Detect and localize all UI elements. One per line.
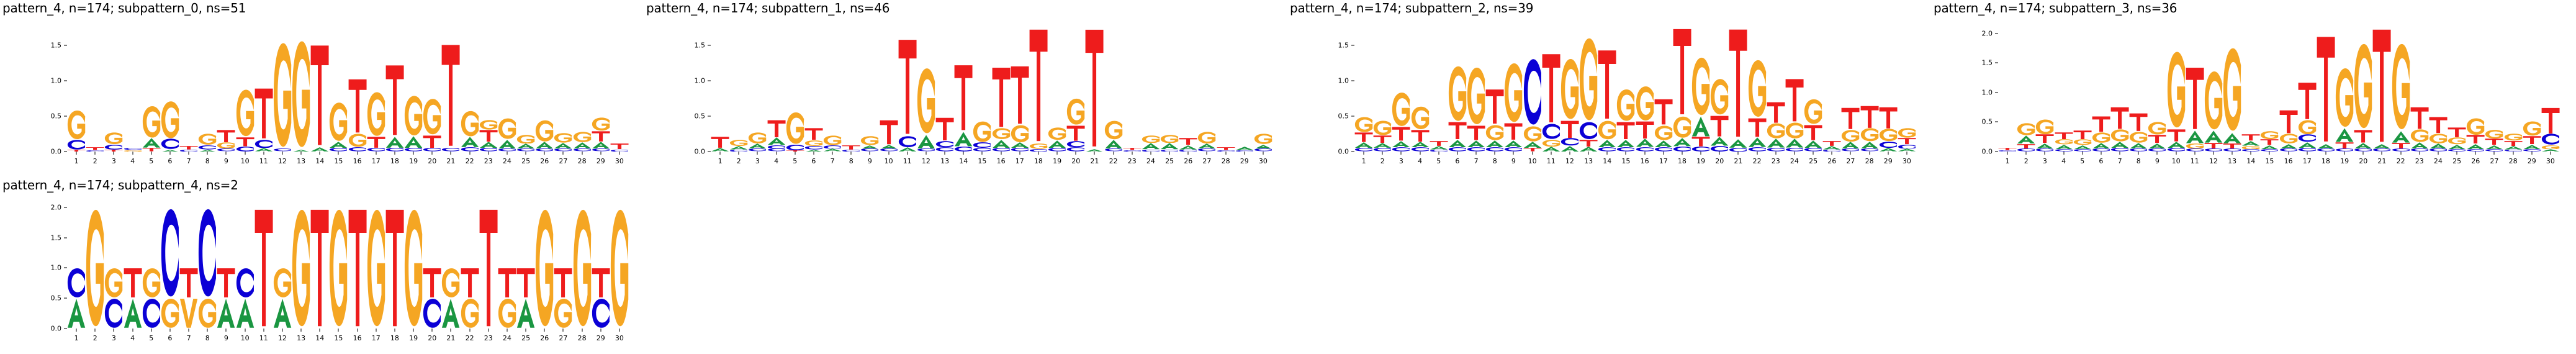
x-tick-label: 20	[1715, 157, 1724, 165]
x-tick-mark	[95, 152, 96, 155]
logo-letter-A	[1860, 142, 1879, 148]
x-tick-mark	[2344, 152, 2345, 155]
logo-stack	[1179, 27, 1197, 152]
logo-letter-A	[1373, 143, 1392, 148]
x-tick-mark	[488, 329, 489, 332]
logo-stack	[535, 27, 554, 152]
x-tick-label: 27	[559, 157, 567, 165]
logo-letter-T	[898, 38, 917, 136]
x-tick-label: 19	[2340, 157, 2349, 165]
x-tick-mark	[2438, 152, 2438, 155]
logo-stack	[124, 204, 142, 329]
panel-title: pattern_4, n=174; subpattern_2, ns=39	[1290, 1, 1533, 16]
x-tick-mark	[1457, 152, 1457, 155]
x-tick-label: 2	[93, 157, 97, 165]
logo-stack	[935, 27, 954, 152]
logo-stack	[1998, 27, 2017, 152]
x-tick-label: 1	[1362, 157, 1366, 165]
x-tick-label: 9	[224, 334, 228, 342]
logo-letter-G	[2260, 131, 2279, 139]
logo-stack	[2035, 27, 2054, 152]
x-tick-label: 29	[1884, 157, 1893, 165]
logo-letter-G	[748, 132, 767, 143]
x-tick-label: 20	[428, 157, 436, 165]
logo-letter-T	[2298, 82, 2317, 120]
x-tick-mark	[95, 329, 96, 332]
logo-letter-T	[880, 120, 898, 145]
logo-letter-G	[554, 133, 572, 143]
logo-letter-G	[1142, 135, 1160, 143]
logo-letter-A	[2073, 145, 2092, 150]
logo-letter-T	[804, 128, 823, 140]
logo-panel-subpattern_0: pattern_4, n=174; subpattern_0, ns=510.0…	[0, 0, 644, 177]
logo-stack	[423, 27, 441, 152]
x-tick-mark	[2232, 152, 2233, 155]
logo-letter-T	[1804, 125, 1822, 140]
x-tick-mark	[982, 152, 983, 155]
x-tick-mark	[1869, 152, 1870, 155]
logo-letter-T	[254, 207, 273, 329]
logo-letter-G	[2523, 121, 2541, 136]
logo-letter-G	[423, 98, 441, 135]
logo-letter-G	[367, 207, 385, 329]
logo-letter-A	[479, 142, 498, 148]
logo-letter-T	[2186, 66, 2204, 130]
x-tick-mark	[1076, 152, 1076, 155]
logo-letter-G	[1485, 125, 1504, 140]
x-tick-mark	[776, 152, 777, 155]
logo-stack	[2504, 27, 2523, 152]
logo-letter-A	[2223, 133, 2241, 143]
logo-letter-A	[2148, 143, 2166, 149]
x-tick-mark	[2101, 152, 2101, 155]
logo-letter-G	[329, 102, 348, 142]
x-tick-label: 21	[1734, 157, 1742, 165]
x-tick-mark	[1701, 152, 1701, 155]
x-tick-label: 12	[278, 157, 287, 165]
x-tick-mark	[2269, 152, 2270, 155]
logo-stack	[2204, 27, 2223, 152]
logo-letter-G	[1354, 117, 1373, 132]
logo-stack	[1048, 27, 1066, 152]
logo-stack	[516, 204, 535, 329]
x-tick-label: 11	[259, 334, 268, 342]
logo-letter-T	[2167, 129, 2186, 142]
logo-stack	[1197, 27, 1216, 152]
logo-letter-G	[479, 120, 498, 130]
logo-stack	[348, 204, 367, 329]
logo-stack	[898, 27, 917, 152]
logo-stack	[767, 27, 786, 152]
x-tick-label: 15	[1621, 157, 1630, 165]
x-tick-mark	[619, 329, 619, 332]
logo-letter-A	[1485, 140, 1504, 147]
logo-stack	[1430, 27, 1448, 152]
x-tick-mark	[544, 152, 545, 155]
x-tick-label: 26	[540, 157, 549, 165]
x-tick-label: 21	[446, 157, 455, 165]
logo-letter-G	[2092, 132, 2110, 143]
x-tick-mark	[1607, 152, 1608, 155]
logo-letter-G	[1160, 135, 1179, 143]
x-tick-mark	[451, 152, 451, 155]
x-tick-mark	[320, 329, 320, 332]
logo-letter-T	[1691, 137, 1710, 147]
x-tick-label: 2	[1380, 157, 1385, 165]
logo-letter-A	[1560, 146, 1579, 152]
x-tick-label: 16	[353, 334, 362, 342]
x-tick-mark	[169, 152, 170, 155]
logo-letter-T	[610, 143, 629, 149]
logo-letter-T	[1448, 122, 1467, 140]
x-tick-mark	[1263, 152, 1263, 155]
x-tick-mark	[1113, 152, 1114, 155]
logo-stack	[1710, 27, 1729, 152]
logo-letter-T	[2335, 142, 2354, 148]
logo-letter-T	[2523, 136, 2541, 144]
logo-letter-G	[2541, 145, 2560, 150]
logo-letter-T	[1029, 27, 1048, 143]
x-tick-mark	[207, 152, 208, 155]
logo-stack	[2092, 27, 2110, 152]
logo-letter-A	[592, 142, 610, 148]
logo-letter-T	[2541, 107, 2560, 134]
logo-stack	[2448, 27, 2466, 152]
logo-stack	[592, 204, 610, 329]
logo-letter-C	[973, 142, 991, 148]
x-tick-mark	[1663, 152, 1664, 155]
x-tick-label: 16	[997, 157, 1006, 165]
x-tick-mark	[2213, 152, 2213, 155]
logo-letter-A	[2335, 128, 2354, 142]
logo-letter-G	[142, 106, 161, 138]
logo-stack	[104, 204, 123, 329]
x-tick-label: 17	[1016, 157, 1024, 165]
logo-stack	[1560, 27, 1579, 152]
x-tick-label: 25	[521, 334, 530, 342]
logo-letter-A	[1748, 137, 1767, 147]
logo-letter-A	[1804, 140, 1822, 148]
logo-letter-G	[729, 140, 748, 146]
logo-letter-G	[2017, 123, 2035, 135]
x-tick-label: 5	[1436, 157, 1441, 165]
logo-letter-C	[1066, 147, 1085, 152]
x-tick-mark	[1569, 152, 1570, 155]
x-tick-mark	[2026, 152, 2027, 155]
x-tick-mark	[189, 329, 189, 332]
plot-area: 0.00.51.01.52.01234567891011121314151617…	[67, 204, 629, 329]
x-tick-mark	[1364, 152, 1364, 155]
logo-stack	[2429, 27, 2448, 152]
logo-stack	[1523, 27, 1542, 152]
x-tick-label: 28	[578, 157, 587, 165]
logo-stack	[1467, 27, 1485, 152]
x-tick-label: 8	[849, 157, 853, 165]
logo-letter-T	[2485, 138, 2503, 145]
x-tick-label: 11	[1547, 157, 1556, 165]
logo-letter-G	[367, 91, 385, 137]
x-tick-label: 21	[446, 334, 455, 342]
logo-stack	[161, 27, 179, 152]
x-tick-mark	[2007, 152, 2008, 155]
logo-letter-G	[404, 95, 423, 136]
logo-stack	[2260, 27, 2279, 152]
x-tick-label: 30	[2546, 157, 2555, 165]
logo-letter-G	[2298, 120, 2317, 135]
logo-stack	[1029, 27, 1048, 152]
x-tick-label: 3	[112, 157, 116, 165]
logo-panel-subpattern_3: pattern_4, n=174; subpattern_3, ns=360.0…	[1931, 0, 2575, 177]
logo-stack	[1011, 27, 1029, 152]
x-tick-mark	[507, 329, 507, 332]
logo-letter-A	[2410, 142, 2429, 148]
logo-stack	[1748, 27, 1767, 152]
logo-stack	[554, 27, 572, 152]
x-tick-mark	[301, 329, 302, 332]
logo-stack	[310, 27, 329, 152]
logo-letter-G	[1048, 127, 1066, 140]
x-tick-label: 25	[2452, 157, 2461, 165]
x-tick-mark	[1476, 152, 1477, 155]
x-tick-mark	[1401, 152, 1402, 155]
x-tick-label: 17	[372, 157, 381, 165]
logo-stack	[842, 27, 860, 152]
logo-stack	[1123, 27, 1142, 152]
logo-letter-T	[1373, 135, 1392, 143]
x-tick-label: 4	[130, 157, 135, 165]
logo-stack	[1822, 27, 1841, 152]
x-tick-label: 22	[2397, 157, 2405, 165]
logo-letter-G	[804, 140, 823, 146]
logo-panel-subpattern_1: pattern_4, n=174; subpattern_1, ns=460.0…	[644, 0, 1287, 177]
logo-stack	[273, 204, 292, 329]
logo-letter-A	[310, 147, 329, 152]
logo-letter-T	[954, 64, 973, 132]
logo-stack	[498, 204, 516, 329]
logo-letter-T	[2148, 135, 2166, 143]
x-tick-label: 28	[578, 334, 587, 342]
logo-letter-G	[516, 135, 535, 144]
logo-letter-A	[992, 140, 1011, 148]
logo-stack	[1841, 27, 1860, 152]
logo-letter-G	[1011, 125, 1029, 143]
logo-letter-G	[592, 117, 610, 131]
logo-letter-G	[161, 101, 179, 139]
x-tick-mark	[413, 329, 414, 332]
x-tick-label: 10	[885, 157, 893, 165]
x-tick-label: 7	[1474, 157, 1479, 165]
x-tick-label: 27	[2490, 157, 2498, 165]
x-tick-label: 14	[315, 157, 324, 165]
logo-letter-T	[592, 131, 610, 142]
logo-letter-A	[461, 137, 479, 147]
logo-letter-T	[2129, 113, 2148, 132]
x-tick-mark	[2382, 152, 2382, 155]
x-tick-label: 8	[1493, 157, 1497, 165]
x-tick-mark	[1188, 152, 1189, 155]
plot-area: 0.00.51.01.52.01234567891011121314151617…	[1998, 27, 2560, 152]
logo-letter-A	[2129, 143, 2148, 149]
logo-stack	[2298, 27, 2317, 152]
x-tick-label: 12	[278, 334, 287, 342]
logo-stack	[104, 27, 123, 152]
logo-stack	[1785, 27, 1804, 152]
x-tick-label: 1	[718, 157, 723, 165]
x-tick-label: 24	[503, 157, 511, 165]
x-tick-label: 18	[1678, 157, 1687, 165]
logo-letter-A	[1542, 147, 1560, 152]
x-tick-label: 15	[978, 157, 986, 165]
logo-letter-T	[842, 145, 860, 150]
logo-stack	[1729, 27, 1747, 152]
logo-letter-G	[610, 207, 629, 329]
logo-letter-A	[1392, 141, 1410, 147]
logo-stack	[1767, 27, 1785, 152]
logo-letter-C	[2541, 134, 2560, 145]
x-tick-mark	[1094, 152, 1095, 155]
x-tick-mark	[1888, 152, 1888, 155]
logo-stack	[67, 27, 86, 152]
logo-letter-C	[1748, 147, 1767, 152]
logo-letter-C	[1560, 138, 1579, 146]
x-tick-mark	[1626, 152, 1626, 155]
x-tick-mark	[795, 152, 795, 155]
x-tick-mark	[488, 152, 489, 155]
logo-letter-G	[1841, 130, 1860, 142]
logo-stack	[992, 27, 1011, 152]
x-tick-mark	[2419, 152, 2420, 155]
x-tick-mark	[507, 152, 507, 155]
x-tick-mark	[376, 152, 376, 155]
x-tick-label: 3	[1399, 157, 1403, 165]
logo-stack	[2372, 27, 2391, 152]
logo-letter-A	[217, 298, 235, 329]
logo-letter-A	[1579, 147, 1598, 152]
x-tick-mark	[1588, 152, 1589, 155]
logo-letter-C	[1598, 147, 1616, 152]
logo-letter-T	[2372, 27, 2391, 144]
logo-letter-C	[1673, 147, 1691, 152]
logo-letter-C	[898, 136, 917, 147]
logo-stack	[973, 27, 991, 152]
logo-letter-T	[479, 130, 498, 142]
x-tick-mark	[1019, 152, 1020, 155]
logo-letter-T	[441, 43, 460, 148]
x-tick-label: 8	[205, 334, 210, 342]
logo-letter-G	[1616, 89, 1635, 122]
panel-title: pattern_4, n=174; subpattern_1, ns=46	[646, 1, 889, 16]
plot-area: 0.00.51.01.51234567891011121314151617181…	[67, 27, 629, 152]
logo-stack	[2129, 27, 2148, 152]
logo-stack	[198, 27, 217, 152]
logo-stack	[1879, 27, 1898, 152]
logo-letter-G	[1898, 128, 1916, 138]
x-tick-label: 29	[597, 334, 605, 342]
x-tick-label: 20	[2359, 157, 2367, 165]
x-tick-mark	[282, 329, 282, 332]
logo-letter-T	[1841, 107, 1860, 129]
logo-letter-G	[786, 112, 804, 145]
logo-stack	[1142, 27, 1160, 152]
logo-letter-G	[2110, 129, 2129, 142]
x-tick-mark	[1438, 152, 1439, 155]
logo-letter-G	[2167, 50, 2186, 129]
logo-stack	[1448, 27, 1467, 152]
logo-stack	[2055, 27, 2073, 152]
logo-letter-T	[310, 207, 329, 329]
logo-letter-T	[423, 268, 441, 298]
logo-stack	[1411, 27, 1430, 152]
x-tick-mark	[451, 329, 451, 332]
logo-letter-A	[329, 142, 348, 148]
logo-letter-G	[292, 207, 310, 329]
logo-letter-A	[1673, 138, 1691, 147]
logo-stack	[2317, 27, 2335, 152]
logo-letter-G	[161, 298, 179, 329]
logo-stack	[217, 204, 235, 329]
logo-stack	[310, 204, 329, 329]
x-tick-mark	[2120, 152, 2120, 155]
logo-stack	[142, 204, 161, 329]
x-tick-label: 4	[1418, 157, 1422, 165]
logo-letter-A	[748, 143, 767, 148]
logo-stack	[441, 204, 460, 329]
logo-stack	[2392, 27, 2410, 152]
logo-letter-T	[992, 66, 1011, 128]
x-tick-label: 7	[831, 157, 835, 165]
x-tick-mark	[1382, 152, 1383, 155]
logo-stack	[1485, 27, 1504, 152]
logo-letter-G	[1804, 99, 1822, 124]
x-tick-mark	[2494, 152, 2495, 155]
x-tick-label: 24	[2434, 157, 2443, 165]
logo-stack	[2523, 27, 2541, 152]
x-tick-label: 7	[187, 334, 191, 342]
x-tick-label: 26	[540, 334, 549, 342]
x-tick-label: 13	[940, 157, 949, 165]
x-tick-label: 13	[297, 334, 305, 342]
logo-stack	[1898, 27, 1916, 152]
logo-stack	[273, 27, 292, 152]
x-tick-label: 9	[224, 157, 228, 165]
logo-letter-G	[2129, 132, 2148, 143]
logo-letter-A	[2317, 144, 2335, 149]
logo-letter-G	[2223, 47, 2241, 132]
logo-letter-G	[67, 110, 86, 140]
logo-letter-G	[1029, 143, 1048, 149]
logo-letter-A	[2279, 144, 2298, 149]
logo-letter-T	[2110, 107, 2129, 129]
logo-letter-G	[1785, 122, 1804, 138]
x-tick-mark	[2082, 152, 2083, 155]
x-tick-label: 9	[1511, 157, 1516, 165]
logo-letter-T	[2354, 130, 2372, 143]
logo-letter-C	[254, 140, 273, 148]
x-tick-label: 16	[2284, 157, 2293, 165]
x-tick-mark	[963, 152, 964, 155]
logo-letter-A	[1841, 142, 1860, 148]
x-tick-label: 17	[1659, 157, 1668, 165]
logo-letter-T	[516, 268, 535, 298]
x-tick-mark	[739, 152, 739, 155]
logo-stack	[729, 27, 748, 152]
logo-stack	[573, 27, 592, 152]
x-tick-label: 11	[903, 157, 912, 165]
logo-letter-A	[2260, 145, 2279, 150]
logo-letter-G	[2448, 137, 2466, 144]
x-tick-mark	[1207, 152, 1207, 155]
logo-letter-A	[535, 142, 554, 148]
